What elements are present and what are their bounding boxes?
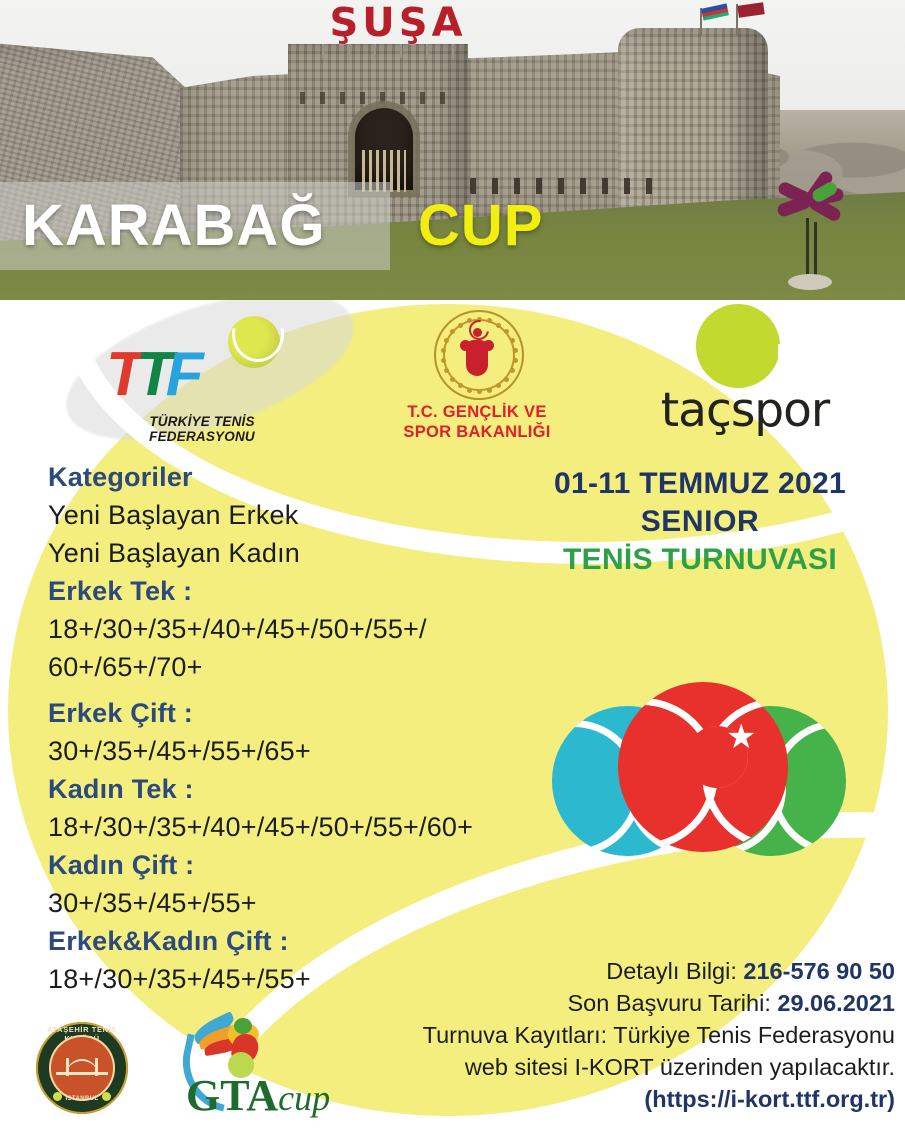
categories-heading: Kategoriler (48, 458, 528, 496)
ttf-letter-1: T (106, 340, 136, 409)
emblem-dot (504, 329, 509, 334)
ttf-letter-3: F (166, 340, 196, 409)
gta-word-suffix: cup (278, 1078, 330, 1118)
emblem-dot (487, 388, 492, 393)
emblem-dot (510, 368, 515, 373)
registration-line-1: Turnuva Kayıtları: Türkiye Tenis Federas… (315, 1019, 895, 1051)
hill-sign-supports (322, 44, 474, 58)
logo-tacspor: taçspor (640, 304, 850, 439)
poster-title-accent: CUP (418, 192, 543, 259)
event-info-block: 01-11 TEMMUZ 2021 SENIOR TENİS TURNUVASI (505, 465, 895, 579)
poster-body: TTF TÜRKİYE TENİS FEDERASYONU T.C. GENÇL… (0, 300, 905, 1131)
category-group-label: Erkek Tek : (48, 572, 528, 610)
ministry-name-line-2: SPOR BAKANLIĞI (372, 422, 582, 442)
category-values: Yeni Başlayan Erkek (48, 496, 528, 534)
registration-line-2: web sitesi I-KORT üzerinden yapılacaktır… (315, 1051, 895, 1083)
shusha-hill-sign: ŞUŞA (318, 2, 478, 46)
categories-block: Kategoriler Yeni Başlayan ErkekYeni Başl… (48, 458, 528, 998)
tacspor-mark-icon (696, 304, 780, 388)
emblem-dot (487, 318, 492, 323)
three-tennis-balls-graphic: ★ (548, 682, 868, 892)
emblem-dot (458, 383, 463, 388)
category-group-label: Kadın Çift : (48, 846, 528, 884)
ministry-emblem-icon (434, 310, 520, 396)
flower-stem (806, 218, 809, 280)
event-dates: 01-11 TEMMUZ 2021 (505, 465, 895, 503)
emblem-dot (450, 377, 455, 382)
emblem-dot (477, 389, 482, 394)
ttf-name-label: TÜRKİYE TENİS FEDERASYONU (96, 414, 308, 444)
tennis-ball-red-turkish: ★ (618, 682, 788, 852)
contact-info-line: Detaylı Bilgi: 216-576 90 50 (315, 955, 895, 987)
category-values: Yeni Başlayan Kadın (48, 534, 528, 572)
flower-base (788, 274, 832, 290)
emblem-dot (441, 348, 446, 353)
category-values: 18+/30+/35+/40+/45+/50+/55+/ (48, 610, 528, 648)
contact-block: Detaylı Bilgi: 216-576 90 50 Son Başvuru… (315, 955, 895, 1115)
emblem-dot (444, 338, 449, 343)
emblem-dot (444, 368, 449, 373)
logo-atasehir-tennis-club: ATAŞEHİR TENİS KULÜBÜ İSTANBUL (36, 1022, 128, 1114)
event-level: SENIOR (505, 503, 895, 541)
categories-spacer (48, 686, 528, 694)
emblem-dot (496, 323, 501, 328)
contact-info-label: Detaylı Bilgi: (606, 958, 743, 984)
contact-phone: 216-576 90 50 (743, 958, 895, 984)
category-values: 30+/35+/45+/55+ (48, 884, 528, 922)
emblem-dot (450, 329, 455, 334)
categories-list: Yeni Başlayan ErkekYeni Başlayan KadınEr… (48, 496, 528, 998)
emblem-dot (441, 358, 446, 363)
category-values: 60+/65+/70+ (48, 648, 528, 686)
bridge-icon (56, 1058, 108, 1080)
header-photo: ŞUŞA KARABAĞ CUP (0, 0, 905, 300)
emblem-dot (513, 358, 518, 363)
emblem-dot (513, 348, 518, 353)
emblem-dot (504, 377, 509, 382)
deadline-line: Son Başvuru Tarihi: 29.06.2021 (315, 987, 895, 1019)
flower-stem-2 (814, 222, 817, 280)
category-group-label: Erkek Çift : (48, 694, 528, 732)
gta-word-main: GTA (186, 1071, 278, 1120)
ttf-monogram: TTF (106, 342, 296, 412)
logo-ministry: T.C. GENÇLİK VE SPOR BAKANLIĞI (372, 308, 582, 438)
club-name-bottom: İSTANBUL (36, 1096, 128, 1102)
category-values: 30+/35+/45+/55+/65+ (48, 732, 528, 770)
poster-title-main: KARABAĞ (22, 192, 325, 259)
gta-wordmark: GTAcup (186, 1072, 330, 1122)
emblem-dot (467, 388, 472, 393)
category-group-label: Kadın Tek : (48, 770, 528, 808)
registration-url[interactable]: (https://i-kort.ttf.org.tr) (315, 1083, 895, 1115)
tacspor-wordmark: taçspor (640, 384, 850, 438)
logo-gtacup: GTAcup (160, 1016, 340, 1124)
ministry-name-line-1: T.C. GENÇLİK VE (372, 402, 582, 422)
ttf-letter-2: T (136, 340, 166, 409)
tournament-poster: ŞUŞA KARABAĞ CUP TTF TÜRKİYE TENİS FEDER… (0, 0, 905, 1131)
emblem-dot (510, 338, 515, 343)
category-values: 18+/30+/35+/40+/45+/50+/55+/60+ (48, 808, 528, 846)
wall-embrasures-upper (300, 92, 460, 104)
flower-sculpture (790, 178, 848, 226)
deadline-date: 29.06.2021 (777, 990, 895, 1016)
event-type: TENİS TURNUVASI (505, 541, 895, 579)
logo-ttf: TTF TÜRKİYE TENİS FEDERASYONU (96, 322, 306, 442)
ministry-name: T.C. GENÇLİK VE SPOR BAKANLIĞI (372, 402, 582, 442)
emblem-dot (458, 323, 463, 328)
deadline-label: Son Başvuru Tarihi: (568, 990, 778, 1016)
